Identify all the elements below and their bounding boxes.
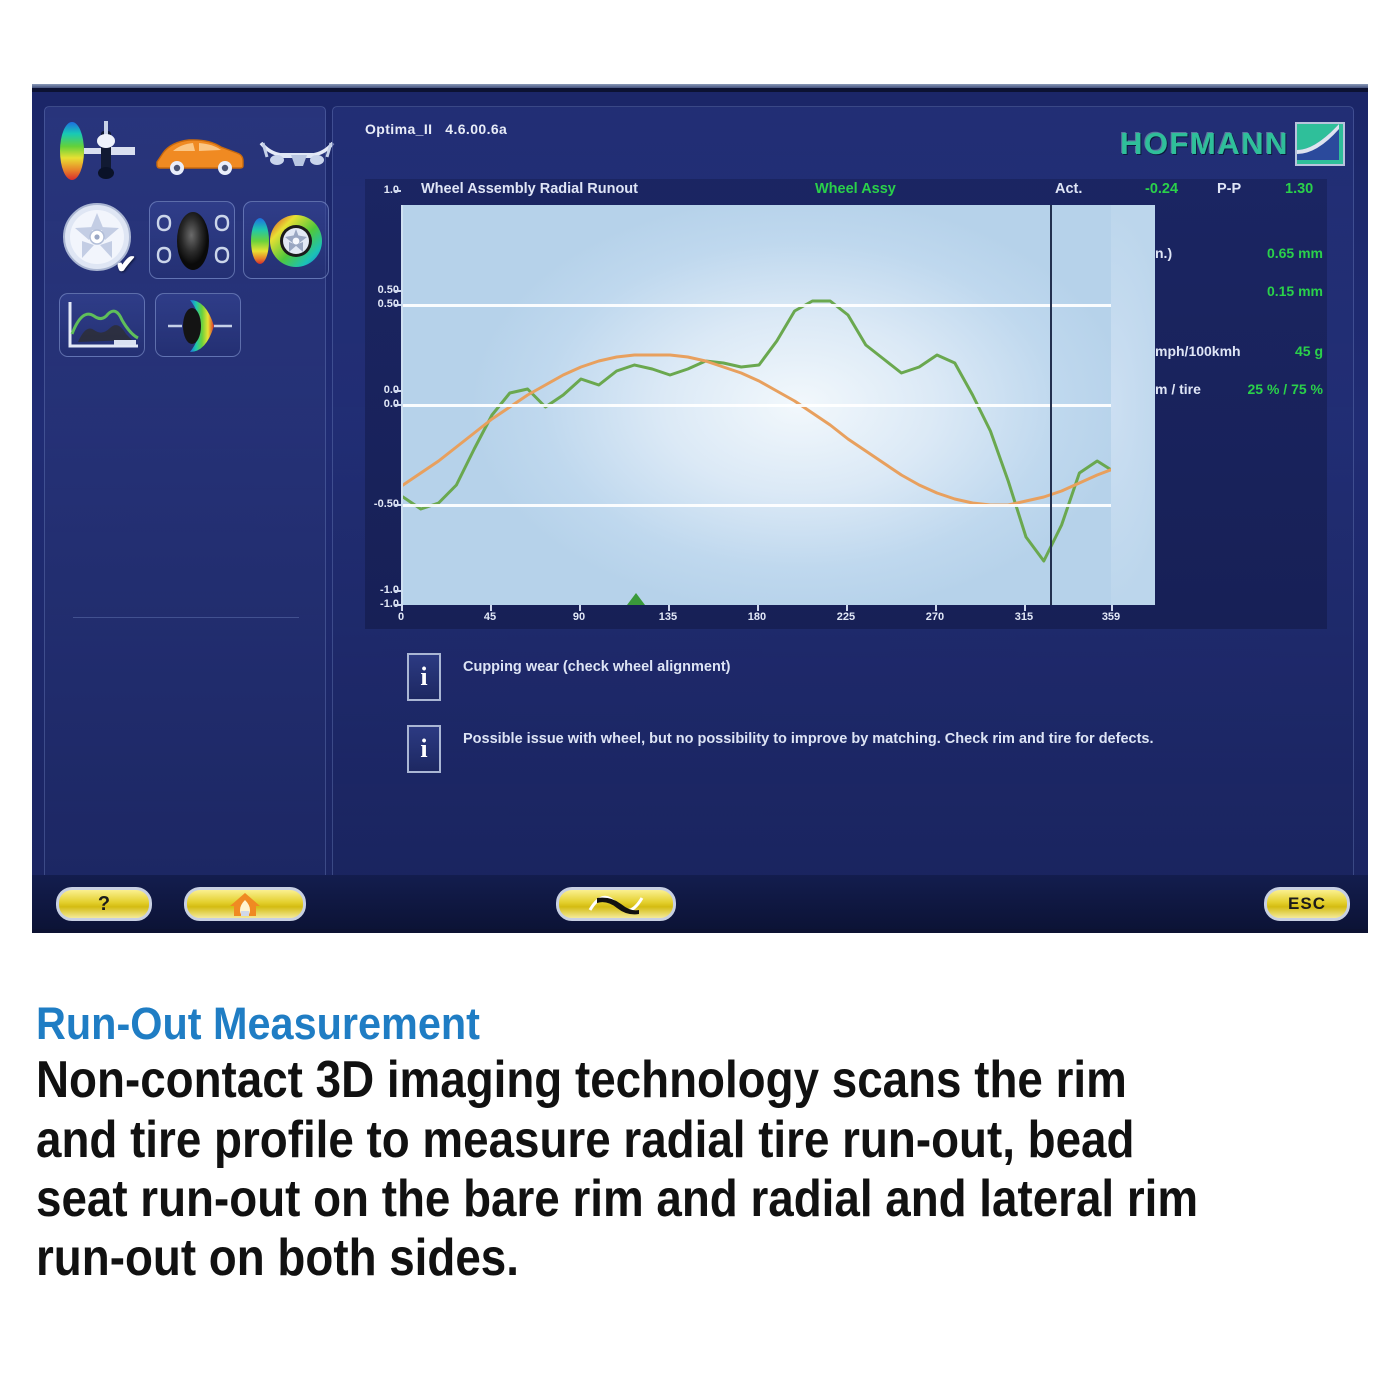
series-line	[403, 355, 1111, 505]
tire-matching-icon	[244, 202, 330, 280]
chart-act-value: -0.24	[1145, 181, 1178, 197]
app-version-label: Optima_II 4.6.00.6a	[365, 121, 507, 137]
y-axis-tick-label: -1.0	[357, 598, 399, 610]
series-line	[403, 301, 1111, 561]
x-axis-tick-label: 45	[475, 611, 505, 623]
cursor-line[interactable]	[1050, 205, 1052, 605]
chart-pp-value: 1.30	[1285, 181, 1313, 197]
x-axis-tick-label: 180	[742, 611, 772, 623]
tire-clamp-icon	[150, 202, 236, 280]
y-axis-tick-label: 1.0	[357, 184, 399, 196]
axle-icon	[257, 133, 337, 175]
chart-header: Wheel Assembly Radial Runout Wheel Assy …	[365, 179, 1327, 205]
readout-value: 25 % / 75 %	[1155, 381, 1323, 397]
sidebar-item-runout-graph[interactable]	[59, 293, 145, 357]
readout-value: 45 g	[1155, 343, 1323, 359]
chart-title: Wheel Assembly Radial Runout	[421, 181, 638, 197]
x-axis-tick-label: 225	[831, 611, 861, 623]
readout-value: 0.15 mm	[1155, 283, 1323, 299]
sidebar-item-car-side[interactable]	[151, 129, 247, 177]
plot-right-strip	[1111, 205, 1155, 605]
x-axis-tick	[1111, 605, 1113, 611]
sidebar-item-axle[interactable]	[257, 133, 337, 175]
message-text: Possible issue with wheel, but no possib…	[463, 729, 1283, 750]
x-axis-tick	[668, 605, 670, 611]
matching-button[interactable]	[556, 887, 676, 921]
bottom-toolbar: ? ESC	[32, 875, 1368, 933]
gridline	[403, 504, 1111, 507]
x-axis-tick-label: 0	[386, 611, 416, 623]
x-axis-tick	[846, 605, 848, 611]
y-axis-tick	[394, 404, 401, 406]
tire-wave-icon	[587, 892, 645, 916]
runout-chart: Wheel Assembly Radial Runout Wheel Assy …	[365, 179, 1327, 629]
brand-name-label: HOFMANN	[1120, 126, 1289, 162]
car-side-icon	[151, 129, 247, 177]
caption-block: Run-Out Measurement Non-contact 3D imagi…	[36, 1000, 1366, 1288]
chart-act-label: Act.	[1055, 181, 1082, 197]
info-icon: i	[407, 725, 441, 773]
brand-mark-icon	[1295, 122, 1345, 166]
plot-area	[401, 205, 1111, 605]
x-axis-tick-label: 270	[920, 611, 950, 623]
y-axis-tick	[394, 504, 401, 506]
help-button[interactable]: ?	[56, 887, 152, 921]
chart-pp-label: P-P	[1217, 181, 1241, 197]
info-icon: i	[407, 653, 441, 701]
wheel-balancer-shaft-icon	[55, 117, 141, 187]
home-icon	[225, 891, 265, 917]
x-axis-tick	[579, 605, 581, 611]
rim-selected-check: ✔	[115, 251, 137, 277]
x-axis-tick-label: 90	[564, 611, 594, 623]
machine-screen: ✔	[32, 88, 1368, 933]
y-axis-tick	[394, 590, 401, 592]
x-axis-tick	[757, 605, 759, 611]
esc-button[interactable]: ESC	[1264, 887, 1350, 921]
y-axis-tick	[394, 304, 401, 306]
tire-profile-icon	[156, 294, 242, 358]
x-axis-tick	[401, 605, 403, 611]
chart-assembly-label: Wheel Assy	[815, 181, 896, 197]
y-axis-tick-label: 0.50	[357, 298, 399, 310]
y-axis-tick	[394, 290, 401, 292]
x-axis-tick	[1024, 605, 1026, 611]
y-axis-tick-label: -1.0	[357, 584, 399, 596]
sidebar-item-wheel-balancer-shaft[interactable]	[55, 117, 141, 187]
page-title: Run-Out Measurement	[36, 1000, 1260, 1047]
sidebar-item-tire-profile[interactable]	[155, 293, 241, 357]
sidebar-icon-rail: ✔	[44, 106, 326, 896]
readout-value: 0.65 mm	[1155, 245, 1323, 261]
x-axis-tick	[490, 605, 492, 611]
sidebar-item-rim-wheel[interactable]: ✔	[57, 199, 141, 283]
message-text: Cupping wear (check wheel alignment)	[463, 657, 1283, 678]
y-axis-tick-label: 0.0	[357, 398, 399, 410]
x-axis-tick-label: 315	[1009, 611, 1039, 623]
y-axis-tick	[394, 190, 401, 192]
rail-divider	[73, 617, 299, 618]
brand-logo: HOFMANN	[1120, 123, 1345, 165]
home-button[interactable]	[184, 887, 306, 921]
y-axis-tick	[394, 604, 401, 606]
gridline	[403, 304, 1111, 307]
y-axis-tick	[394, 390, 401, 392]
caption-body-text: Non-contact 3D imaging technology scans …	[36, 1051, 1206, 1288]
x-axis-tick	[935, 605, 937, 611]
y-axis-tick-label: -0.50	[357, 498, 399, 510]
position-marker	[627, 593, 645, 605]
sidebar-item-tire-matching[interactable]	[243, 201, 329, 279]
gridline	[403, 404, 1111, 407]
x-axis-tick-label: 135	[653, 611, 683, 623]
sidebar-item-tire-clamp[interactable]	[149, 201, 235, 279]
runout-graph-icon	[60, 294, 146, 358]
y-axis-tick-label: 0.0	[357, 384, 399, 396]
x-axis-tick-label: 359	[1096, 611, 1126, 623]
main-content-panel: Optima_II 4.6.00.6a HOFMANN Wheel Assemb…	[332, 106, 1354, 896]
y-axis-tick-label: 0.50	[357, 284, 399, 296]
